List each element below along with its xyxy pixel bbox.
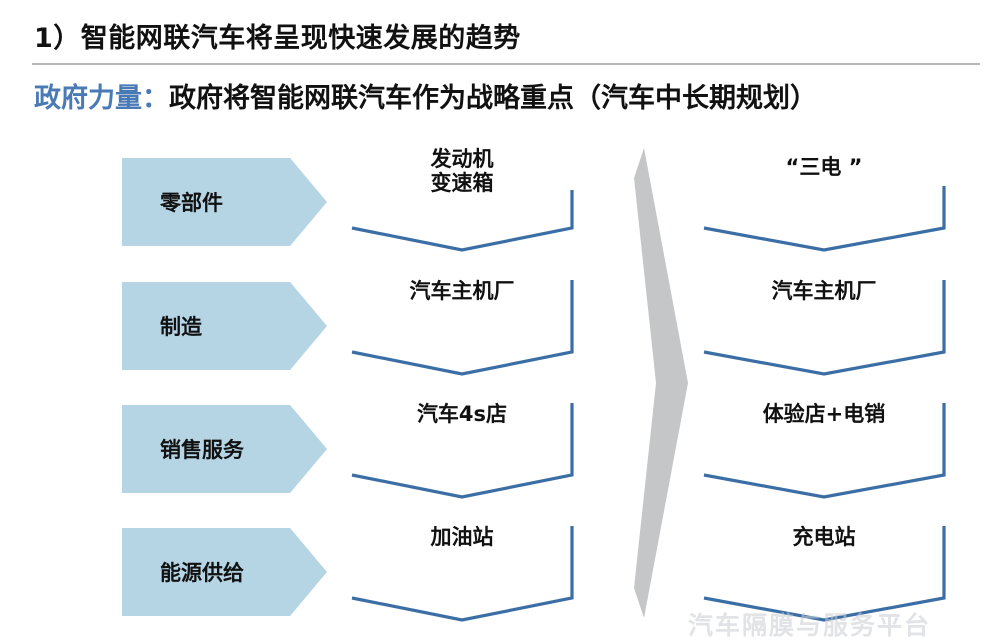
category-label: 销售服务	[122, 434, 244, 464]
future-state-label: 充电站	[700, 526, 948, 550]
current-state-label: 汽车4s店	[348, 403, 576, 427]
current-state-chevron-sales-service[interactable]: 汽车4s店	[348, 397, 576, 501]
future-state-chevron-sales-service[interactable]: 体验店+电销	[700, 397, 948, 501]
future-state-chevron-manufacturing[interactable]: 汽车主机厂	[700, 274, 948, 378]
category-label: 能源供给	[122, 557, 244, 587]
category-chevron-sales-service[interactable]: 销售服务	[122, 405, 327, 493]
chain-row: 销售服务 汽车4s店 体验店+电销	[0, 405, 1007, 495]
future-state-label: 汽车主机厂	[700, 280, 948, 304]
chain-row: 制造 汽车主机厂 汽车主机厂	[0, 282, 1007, 372]
category-chevron-parts[interactable]: 零部件	[122, 158, 327, 246]
current-state-label: 汽车主机厂	[348, 280, 576, 304]
title-divider	[32, 63, 980, 65]
chain-row: 零部件 发动机 变速箱 “三电 ”	[0, 158, 1007, 248]
current-state-chevron-manufacturing[interactable]: 汽车主机厂	[348, 274, 576, 378]
category-chevron-manufacturing[interactable]: 制造	[122, 282, 327, 370]
category-label: 制造	[122, 311, 202, 341]
category-label: 零部件	[122, 187, 223, 217]
future-state-chevron-parts[interactable]: “三电 ”	[700, 150, 948, 254]
value-chain-diagram: 零部件 发动机 变速箱 “三电 ” 制造 汽车主机厂	[0, 130, 1007, 635]
current-state-chevron-energy-supply[interactable]: 加油站	[348, 520, 576, 624]
chain-row: 能源供给 加油站 充电站	[0, 528, 1007, 618]
future-state-label: “三电 ”	[700, 156, 948, 180]
subtitle-rest-text: 政府将智能网联汽车作为战略重点（汽车中长期规划）	[169, 83, 817, 114]
page-subtitle: 政府力量：政府将智能网联汽车作为战略重点（汽车中长期规划）	[34, 76, 817, 115]
subtitle-accent-text: 政府力量：	[34, 83, 169, 114]
current-state-label: 发动机 变速箱	[348, 148, 576, 195]
current-state-label: 加油站	[348, 526, 576, 550]
category-chevron-energy-supply[interactable]: 能源供给	[122, 528, 327, 616]
future-state-chevron-energy-supply[interactable]: 充电站	[700, 520, 948, 624]
current-state-chevron-parts[interactable]: 发动机 变速箱	[348, 150, 576, 254]
page-title: 1）智能网联汽车将呈现快速发展的趋势	[34, 16, 521, 55]
future-state-label: 体验店+电销	[700, 403, 948, 427]
